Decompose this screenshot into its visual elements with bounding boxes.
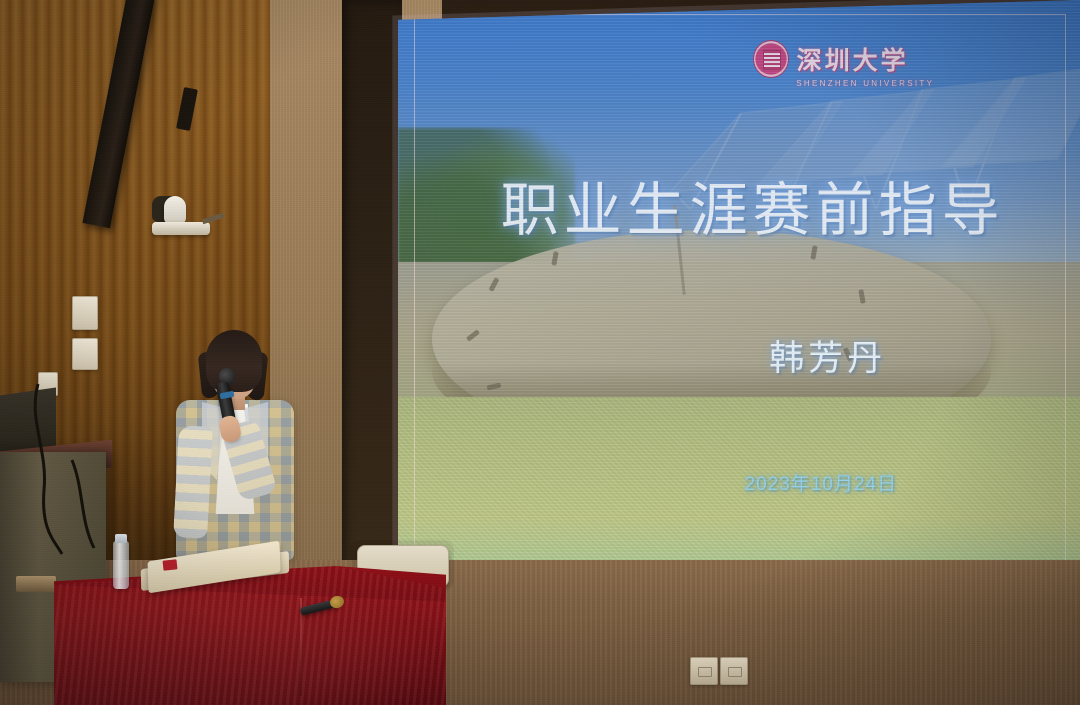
podium-cables [10,380,130,580]
wall-switch-plate[interactable] [72,296,98,330]
university-seal-icon [753,40,789,78]
university-name-cn: 深圳大学 [797,41,909,77]
red-document-mark [163,559,178,570]
power-outlet-plates[interactable] [690,657,748,685]
presentation-slide: 深圳大学 SHENZHEN UNIVERSITY 职业生涯赛前指导 韩芳丹 20… [398,0,1080,640]
university-name-en: SHENZHEN UNIVERSITY [796,79,934,88]
wall-switch-plate[interactable] [72,338,98,370]
slide-presenter-name: 韩芳丹 [671,330,985,381]
presenter-figure [168,330,300,575]
power-socket-icon[interactable] [720,657,748,685]
bottle-cap[interactable] [115,534,127,543]
slide-date: 2023年10月24日 [671,469,971,496]
wall-light-base [152,222,210,235]
presenter-hair [206,330,262,392]
university-logo: 深圳大学 [753,40,909,78]
projection-screen: 深圳大学 SHENZHEN UNIVERSITY 职业生涯赛前指导 韩芳丹 20… [398,0,1080,640]
lecture-hall-photo: 深圳大学 SHENZHEN UNIVERSITY 职业生涯赛前指导 韩芳丹 20… [0,0,1080,705]
power-socket-icon[interactable] [690,657,718,685]
presenter-left-arm [173,425,213,539]
wall-light-icon [164,196,186,224]
slide-frame-border [414,14,1065,611]
slide-title: 职业生涯赛前指导 [439,163,1066,247]
table-skirt [54,585,446,705]
water-bottle[interactable] [113,541,129,589]
